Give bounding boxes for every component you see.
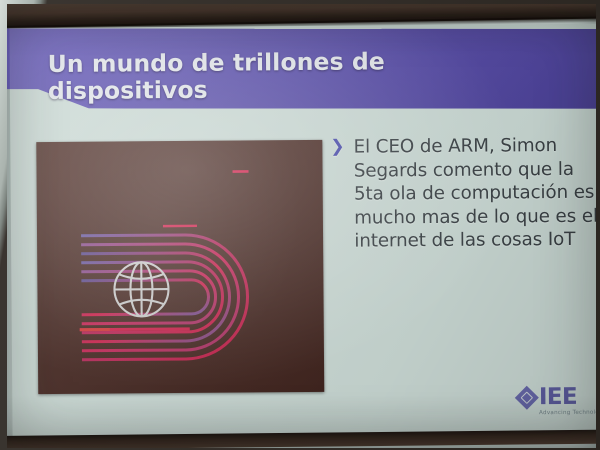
globe-icon xyxy=(114,262,168,316)
presentation-slide: Un mundo de trillones de dispositivos xyxy=(9,24,596,437)
title-banner-area: Un mundo de trillones de dispositivos xyxy=(9,24,596,115)
bullet-list: ❯ El CEO de ARM, Simon Segards comento q… xyxy=(330,134,596,254)
ieee-tagline: Advancing Technology xyxy=(539,410,596,417)
ieee-diamond-icon xyxy=(514,386,538,410)
ieee-wordmark: IEE Advancing Technology xyxy=(539,386,596,417)
ieee-logo-text: IEE xyxy=(539,386,596,409)
page-title: Un mundo de trillones de dispositivos xyxy=(48,47,548,106)
projection-screen: Un mundo de trillones de dispositivos xyxy=(7,4,596,448)
five-globe-graphic xyxy=(36,140,324,394)
bullet-item-text: El CEO de ARM, Simon Segards comento que… xyxy=(354,134,596,253)
ieee-logo: IEE Advancing Technology xyxy=(518,386,596,417)
chevron-right-icon: ❯ xyxy=(330,139,344,157)
artwork-stylized-five xyxy=(36,140,324,394)
slide-photo: Un mundo de trillones de dispositivos xyxy=(0,0,600,450)
